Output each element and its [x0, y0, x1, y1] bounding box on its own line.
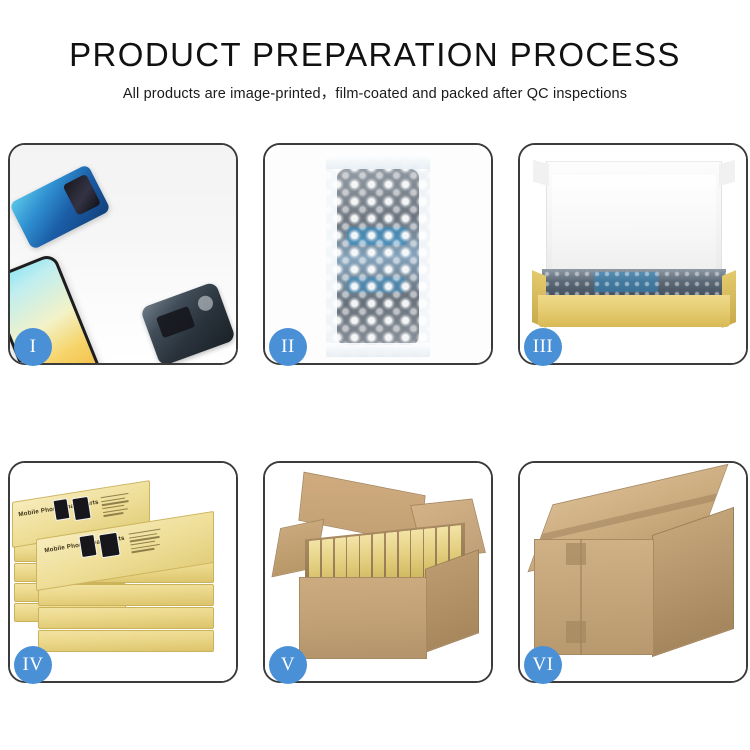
- box-artwork-screen-icon: [71, 496, 91, 521]
- step-image-3: [520, 145, 746, 363]
- step-panel-3: III: [518, 143, 748, 365]
- step-panel-6: VI: [518, 461, 748, 683]
- step-image-4: Mobile Phone Spare Parts Mobile Phone Sp…: [10, 463, 236, 681]
- box-artwork-screen-icon: [98, 532, 121, 559]
- retail-box-edge: [38, 607, 214, 629]
- page-subtitle: All products are image-printed，film-coat…: [0, 85, 750, 104]
- step-panel-2: II: [263, 143, 493, 365]
- step-image-5: [265, 463, 491, 681]
- mailer-box-icon: [532, 161, 736, 339]
- carton-side-panel: [425, 549, 479, 653]
- step-badge-3: III: [524, 328, 562, 366]
- retail-box-edge: [38, 630, 214, 652]
- step-panel-4: Mobile Phone Spare Parts Mobile Phone Sp…: [8, 461, 238, 683]
- product-preparation-infographic: PRODUCT PREPARATION PROCESS All products…: [0, 0, 750, 750]
- process-steps-grid: I II: [8, 143, 748, 683]
- step-badge-2: II: [269, 328, 307, 366]
- step-badge-6: VI: [524, 646, 562, 684]
- step-image-6: [520, 463, 746, 681]
- retail-box-edge: [38, 584, 214, 606]
- foam-liner: [552, 175, 716, 271]
- box-artwork-screen-icon: [52, 498, 70, 521]
- page-title: PRODUCT PREPARATION PROCESS: [0, 34, 750, 76]
- carton-tape-patch: [566, 621, 586, 643]
- bag-seal-bottom: [326, 343, 430, 357]
- step-badge-4: IV: [14, 646, 52, 684]
- retail-box-stack-icon: Mobile Phone Spare Parts Mobile Phone Sp…: [10, 475, 236, 675]
- bag-seal-top: [326, 155, 430, 169]
- carton-tape-patch: [566, 543, 586, 565]
- box-artwork-screen-icon: [78, 534, 97, 558]
- step-badge-1: I: [14, 328, 52, 366]
- bubble-pattern-overlay-secondary: [326, 155, 430, 357]
- step-image-1: [10, 145, 236, 363]
- header: PRODUCT PREPARATION PROCESS All products…: [0, 34, 750, 104]
- step-image-2: [265, 145, 491, 363]
- step-panel-1: I: [8, 143, 238, 365]
- bubble-wrap-bag-icon: [326, 155, 430, 357]
- carton-front-panel: [534, 539, 654, 655]
- step-badge-5: V: [269, 646, 307, 684]
- open-carton-icon: [277, 479, 483, 669]
- sealed-carton-icon: [534, 487, 734, 665]
- carton-front-panel: [299, 577, 427, 659]
- mailer-front-panel: [538, 295, 730, 327]
- step-panel-5: V: [263, 461, 493, 683]
